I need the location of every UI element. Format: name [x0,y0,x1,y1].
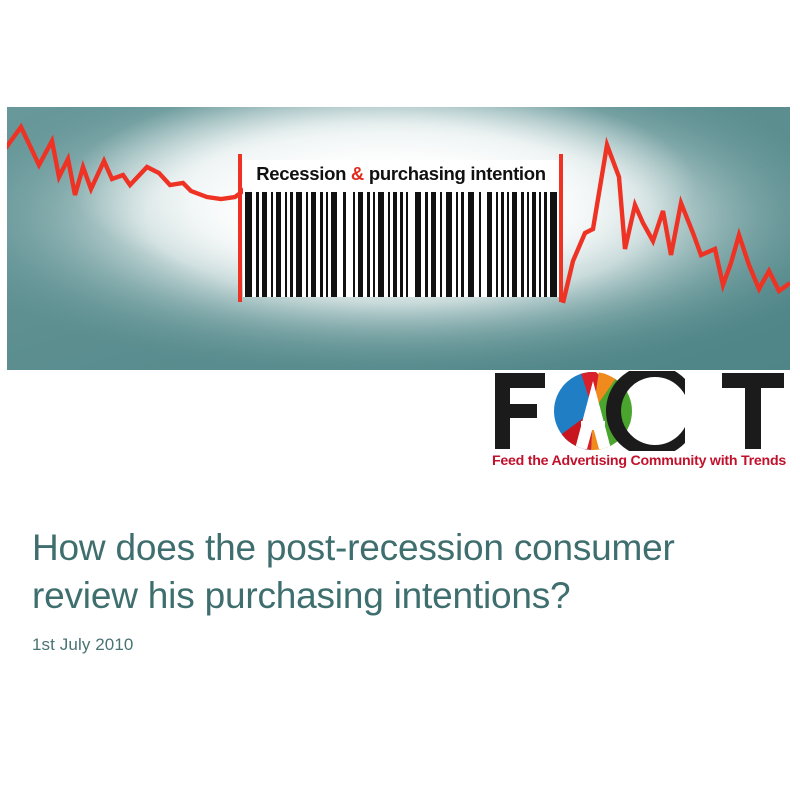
fact-logo-mark-icon [489,371,789,451]
hero-banner: Recession & purchasing intention [7,107,790,370]
barcode-caption: Recession & purchasing intention [243,163,559,185]
slide-canvas: Recession & purchasing intention [0,0,800,800]
barcode-edge-right-icon [559,160,562,297]
logo-letter-t [722,373,784,449]
barcode-caption-suffix: purchasing intention [364,163,546,184]
page-title-line-2: review his purchasing intentions? [32,572,762,620]
fact-logo: Feed the Advertising Community with Tren… [489,371,789,477]
barcode-graphic: Recession & purchasing intention [243,160,559,297]
title-block: How does the post-recession consumer rev… [32,524,762,656]
barcode-caption-prefix: Recession [256,163,351,184]
page-title-line-1: How does the post-recession consumer [32,524,762,572]
logo-letter-f [495,373,545,449]
page-title: How does the post-recession consumer rev… [32,524,762,620]
barcode-bars-icon [243,192,559,297]
presentation-date: 1st July 2010 [32,634,762,656]
barcode-edge-left-icon [239,160,242,297]
logo-letter-c [606,371,685,451]
logo-tagline: Feed the Advertising Community with Tren… [489,453,789,469]
barcode-caption-ampersand: & [351,163,364,184]
